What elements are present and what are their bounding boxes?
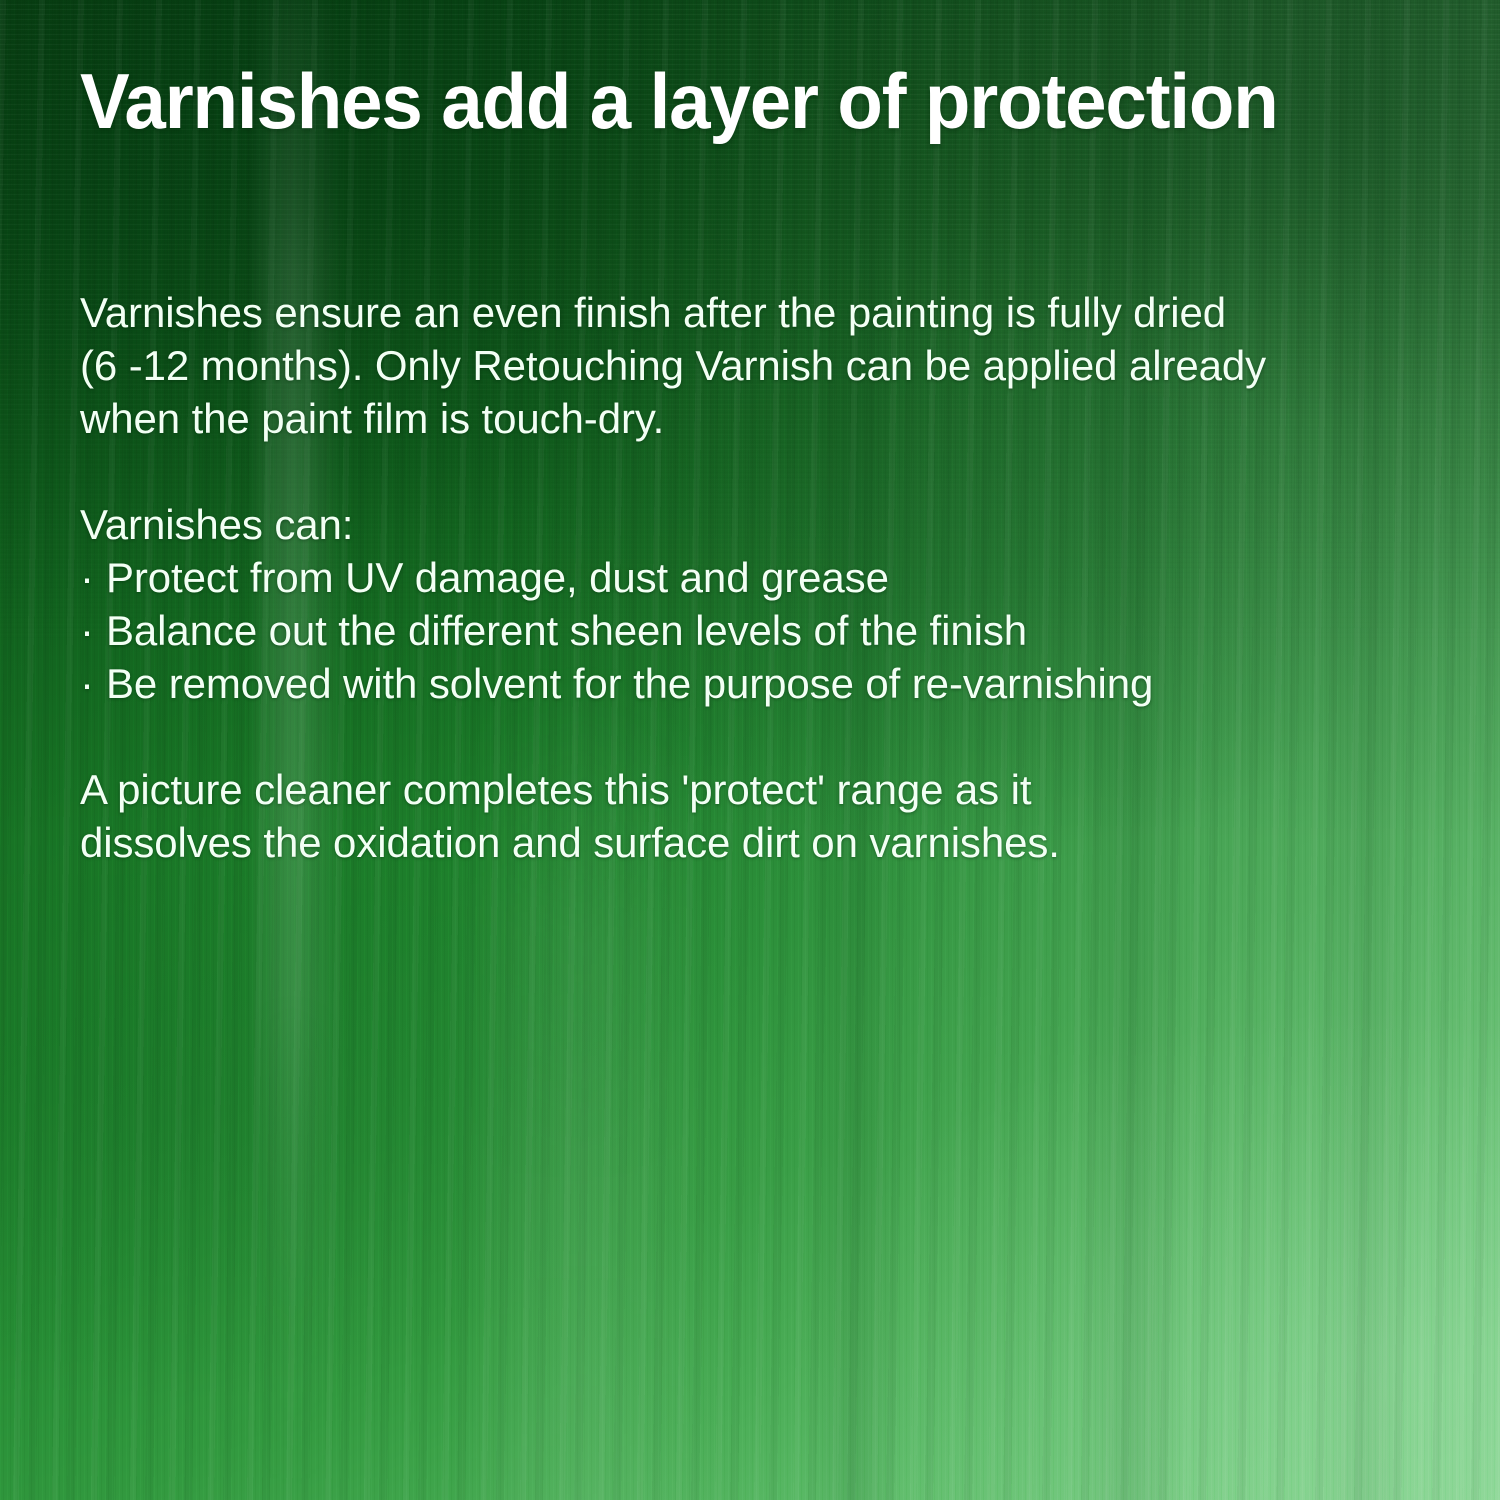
brushstroke-striations-texture [0, 0, 1500, 1500]
paint-ridges [0, 0, 1500, 1500]
paint-blotching [0, 0, 1500, 1500]
list-item-label: Balance out the different sheen levels o… [106, 607, 1027, 654]
list-item: · Protect from UV damage, dust and greas… [80, 551, 1153, 604]
intro-line-3: when the paint film is touch-dry. [80, 392, 1370, 445]
bullet-dot-icon: · [80, 604, 94, 657]
paint-smear-left [0, 0, 1500, 1500]
brushstroke-bands-texture [0, 0, 1500, 1500]
bullet-dot-icon: · [80, 657, 94, 710]
list-item: · Balance out the different sheen levels… [80, 604, 1153, 657]
background-horizontal-light [0, 0, 1500, 1500]
background-top-shade [0, 0, 1500, 1500]
outro-paragraph: A picture cleaner completes this 'protec… [80, 763, 1280, 869]
capability-list: · Protect from UV damage, dust and greas… [80, 551, 1153, 710]
page-title: Varnishes add a layer of protection [80, 62, 1278, 140]
bullet-dot-icon: · [80, 551, 94, 604]
list-item-label: Protect from UV damage, dust and grease [106, 554, 889, 601]
canvas-weave-texture [0, 0, 1500, 1500]
list-heading: Varnishes can: [80, 498, 353, 551]
intro-line-1: Varnishes ensure an even finish after th… [80, 286, 1370, 339]
background-gradient [0, 0, 1500, 1500]
paint-smear-lower-left [0, 0, 1500, 1500]
list-item: · Be removed with solvent for the purpos… [80, 657, 1153, 710]
intro-line-2: (6 -12 months). Only Retouching Varnish … [80, 339, 1370, 392]
intro-paragraph: Varnishes ensure an even finish after th… [80, 286, 1370, 445]
list-item-label: Be removed with solvent for the purpose … [106, 660, 1153, 707]
outro-line-1: A picture cleaner completes this 'protec… [80, 763, 1280, 816]
varnish-info-panel: Varnishes add a layer of protection Varn… [0, 0, 1500, 1500]
outro-line-2: dissolves the oxidation and surface dirt… [80, 816, 1280, 869]
